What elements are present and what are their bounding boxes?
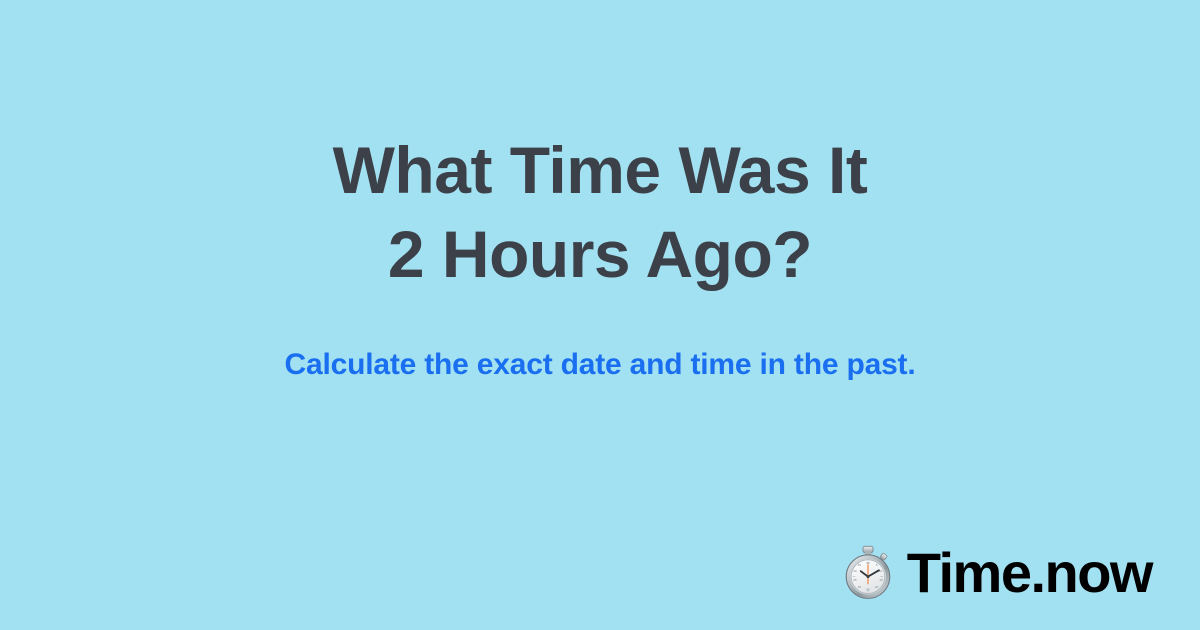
svg-text:15: 15: [879, 578, 883, 582]
brand-logo-lockup: 60 5 10 15 20 25 30 35 40 45 Time.: [839, 544, 1152, 602]
svg-text:20: 20: [875, 585, 879, 589]
card-content: What Time Was It 2 Hours Ago? Calculate …: [0, 0, 1200, 384]
svg-text:35: 35: [853, 578, 857, 582]
svg-text:5: 5: [876, 563, 878, 567]
stopwatch-icon: 60 5 10 15 20 25 30 35 40 45: [839, 544, 897, 602]
page-subtitle: Calculate the exact date and time in the…: [0, 296, 1200, 384]
svg-text:45: 45: [857, 563, 861, 567]
social-share-card: What Time Was It 2 Hours Ago? Calculate …: [0, 0, 1200, 630]
page-title: What Time Was It 2 Hours Ago?: [0, 128, 1200, 296]
svg-text:40: 40: [853, 569, 857, 573]
svg-text:30: 30: [857, 585, 861, 589]
brand-name: Time.now: [907, 544, 1152, 602]
